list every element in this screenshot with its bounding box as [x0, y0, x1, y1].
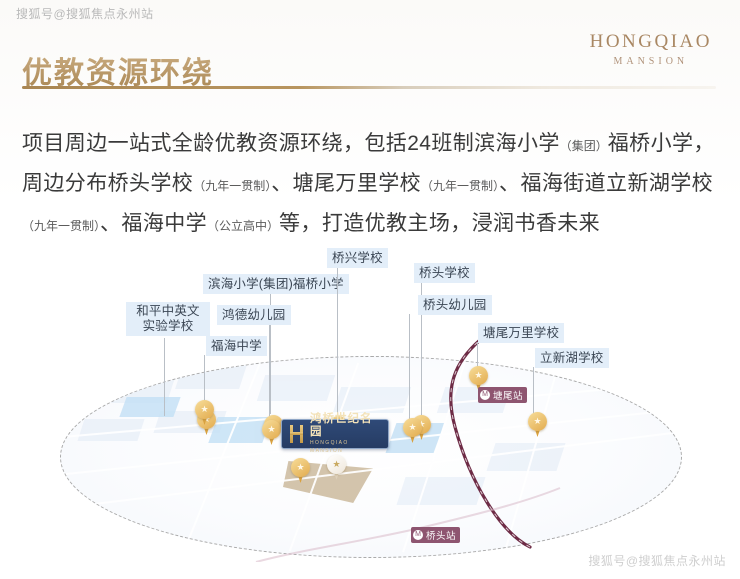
map-label-qiaotou-kindergarten[interactable]: 桥头幼儿园	[418, 295, 492, 315]
label-leader-line	[337, 267, 338, 423]
star-icon: ★	[267, 424, 277, 434]
metro-icon: M	[480, 390, 490, 400]
metro-icon: M	[413, 530, 423, 540]
property-name-en: HONGQIAO MANSION	[310, 439, 383, 455]
map-road	[184, 364, 261, 550]
pin-qiaoxing-lower[interactable]: ★	[291, 458, 310, 484]
star-icon: ★	[408, 422, 418, 432]
description-segment: 、塘尾万里学校	[271, 172, 421, 195]
map-road	[402, 362, 466, 553]
property-name-cn: 鸿桥世纪名园	[310, 413, 383, 439]
star-icon: ★	[296, 462, 306, 472]
label-leader-line	[164, 338, 165, 416]
map-ellipse-frame	[60, 356, 682, 558]
description-paragraph: 项目周边一站式全龄优教资源环绕，包括24班制滨海小学（集团）福桥小学，周边分布桥…	[22, 125, 722, 245]
property-badge[interactable]: 鸿桥世纪名园 HONGQIAO MANSION	[281, 419, 389, 449]
description-segment: （公立高中）	[207, 219, 279, 233]
star-icon: ★	[332, 459, 342, 469]
description-segment: （九年一贯制）	[193, 179, 271, 193]
brand-logo: HONGQIAO MANSION	[590, 32, 712, 67]
label-leader-line	[409, 314, 410, 421]
map-label-qiaotou-school[interactable]: 桥头学校	[414, 263, 475, 283]
gold-divider	[22, 86, 716, 89]
pin-center-area[interactable]: ★	[327, 455, 346, 481]
map-label-heping-school[interactable]: 和平中英文实验学校	[126, 302, 210, 336]
station-label: 塘尾站	[493, 388, 523, 402]
station-label: 桥头站	[426, 528, 456, 542]
hongqiao-h-logo-icon	[287, 424, 306, 444]
brand-subtitle: MANSION	[590, 56, 712, 67]
bottom-watermark: 搜狐号@搜狐焦点永州站	[588, 552, 726, 569]
map-parcel	[396, 477, 485, 505]
star-icon: ★	[200, 404, 210, 414]
map-label-lixinhu-school[interactable]: 立新湖学校	[535, 348, 609, 368]
label-leader-line	[269, 324, 270, 419]
map-label-fuhai-middle-school[interactable]: 福海中学	[206, 336, 267, 356]
brand-name: HONGQIAO	[590, 32, 712, 53]
description-segment: （集团）	[560, 139, 608, 153]
pin-lixinhu[interactable]: ★	[528, 412, 547, 438]
description-segment: 、福海街道立新湖学校	[499, 172, 713, 195]
map-label-qiaoxing-school[interactable]: 桥兴学校	[327, 248, 388, 268]
map-label-binhai-fuqiao-primary[interactable]: 滨海小学(集团)福桥小学	[203, 274, 349, 294]
map-region: 和平中英文实验学校滨海小学(集团)福桥小学桥兴学校鸿德幼儿园桥头学校福海中学桥头…	[0, 232, 740, 562]
map-base	[61, 357, 681, 557]
description-segment: （九年一贯制）	[22, 219, 100, 233]
map-label-tangwei-wanli-school[interactable]: 塘尾万里学校	[478, 323, 564, 343]
star-icon: ★	[474, 370, 484, 380]
map-parcel	[175, 365, 247, 389]
map-water	[119, 397, 180, 417]
star-icon: ★	[533, 416, 543, 426]
pin-binhai-fuqiao[interactable]: ★	[262, 420, 281, 446]
label-leader-line	[533, 367, 534, 415]
slide-page: 搜狐号@搜狐焦点永州站 优教资源环绕 HONGQIAO MANSION 项目周边…	[0, 0, 740, 579]
pin-qiaotou-kinder[interactable]: ★	[403, 418, 422, 444]
map-label-hongde-kindergarten[interactable]: 鸿德幼儿园	[217, 305, 291, 325]
pin-fuhai-middle[interactable]: ★	[195, 400, 214, 426]
description-segment: 项目周边一站式全龄优教资源环绕，包括24班制滨海小学	[22, 132, 560, 155]
description-segment: （九年一贯制）	[421, 179, 499, 193]
station-tangwei[interactable]: M塘尾站	[478, 387, 527, 403]
station-qiaotou[interactable]: M桥头站	[411, 527, 460, 543]
top-watermark: 搜狐号@搜狐焦点永州站	[16, 5, 154, 22]
